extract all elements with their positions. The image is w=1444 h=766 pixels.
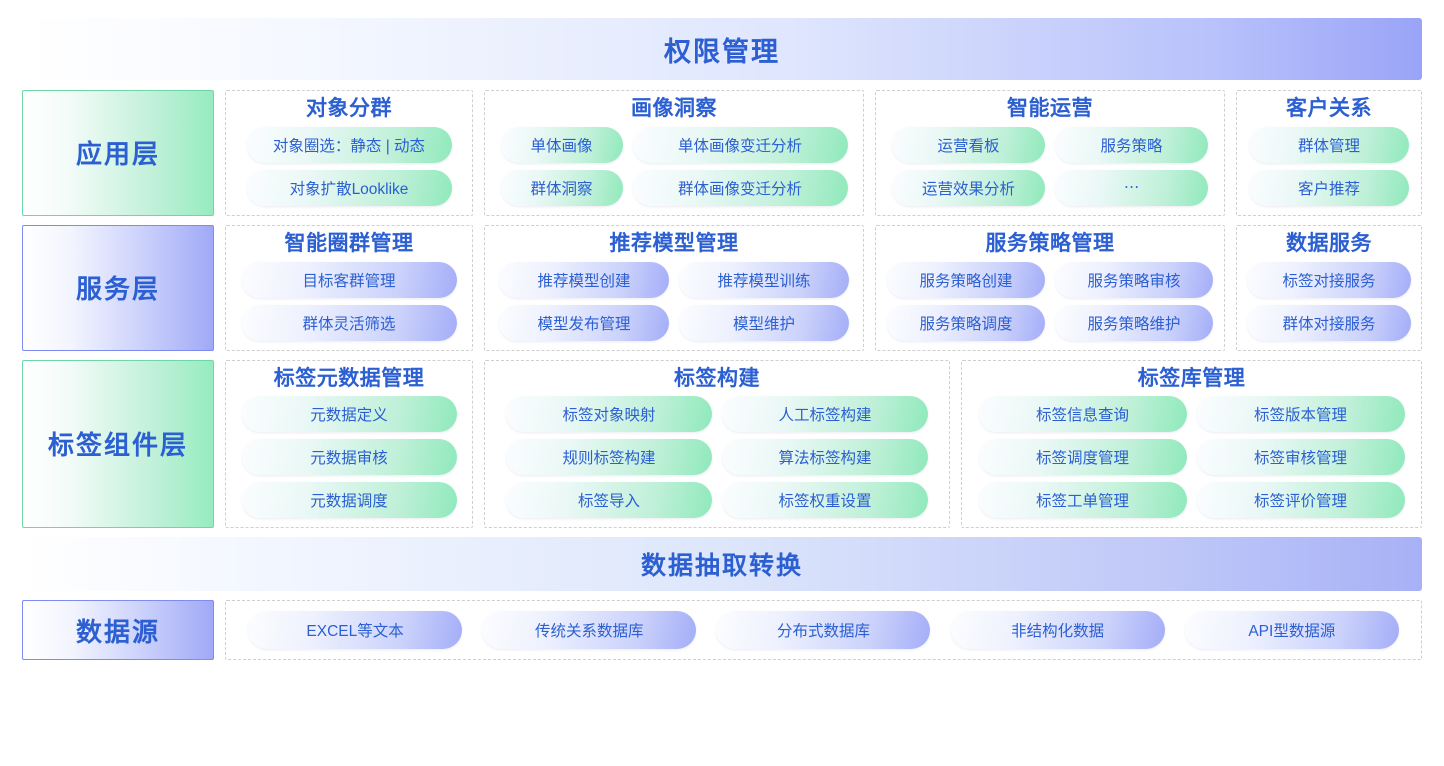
pill-item[interactable]: 群体洞察 [501, 170, 623, 206]
pill-grid: 单体画像 单体画像变迁分析 群体洞察 群体画像变迁分析 [495, 127, 853, 206]
group-smart-cluster-management: 智能圈群管理 目标客群管理 群体灵活筛选 [225, 225, 473, 351]
pill-item[interactable]: 标签对象映射 [506, 396, 712, 432]
pill-item[interactable]: 群体灵活筛选 [242, 305, 457, 341]
group-data-service: 数据服务 标签对接服务 群体对接服务 [1236, 225, 1422, 351]
pill-item[interactable]: 算法标签构建 [722, 439, 928, 475]
pill-grid: 元数据定义 元数据审核 元数据调度 [236, 396, 462, 518]
pill-item[interactable]: 目标客群管理 [242, 262, 457, 298]
pill-item[interactable]: 群体管理 [1249, 127, 1409, 163]
data-extraction-transform-band: 数据抽取转换 [22, 537, 1422, 591]
pill-item[interactable]: 标签对接服务 [1247, 262, 1411, 298]
layer-row-datasource: 数据源 EXCEL等文本 传统关系数据库 分布式数据库 非结构化数据 API型数… [22, 600, 1422, 660]
pill-item[interactable]: 服务策略维护 [1055, 305, 1213, 341]
pill-item[interactable]: 标签版本管理 [1197, 396, 1405, 432]
layer-label-application: 应用层 [22, 90, 214, 216]
pill-item[interactable]: 非结构化数据 [951, 611, 1165, 649]
pill-item[interactable]: 对象圈选：静态 | 动态 [247, 127, 452, 163]
pill-item[interactable]: 服务策略 [1055, 127, 1208, 163]
pill-item[interactable]: 单体画像变迁分析 [633, 127, 848, 163]
pill-item[interactable]: 标签导入 [506, 482, 712, 518]
group-title: 推荐模型管理 [610, 232, 739, 257]
pill-item[interactable]: 运营效果分析 [892, 170, 1045, 206]
layer-row-tag-component: 标签组件层 标签元数据管理 元数据定义 元数据审核 元数据调度 标签构建 标签对… [22, 360, 1422, 529]
layer-groups-service: 智能圈群管理 目标客群管理 群体灵活筛选 推荐模型管理 推荐模型创建 推荐模型训… [225, 225, 1422, 351]
pill-item-more[interactable]: ⋯ [1055, 170, 1208, 206]
group-tag-construction: 标签构建 标签对象映射 人工标签构建 规则标签构建 算法标签构建 标签导入 标签… [484, 360, 950, 529]
group-title: 对象分群 [306, 97, 392, 122]
architecture-diagram: 权限管理 应用层 对象分群 对象圈选：静态 | 动态 对象扩散Looklike … [0, 0, 1444, 766]
pill-item[interactable]: 服务策略调度 [887, 305, 1045, 341]
group-title: 服务策略管理 [986, 232, 1115, 257]
permission-management-banner: 权限管理 [22, 18, 1422, 80]
group-object-segmentation: 对象分群 对象圈选：静态 | 动态 对象扩散Looklike [225, 90, 473, 216]
datasource-group: EXCEL等文本 传统关系数据库 分布式数据库 非结构化数据 API型数据源 [225, 600, 1422, 660]
group-title: 客户关系 [1286, 97, 1372, 122]
layer-groups-application: 对象分群 对象圈选：静态 | 动态 对象扩散Looklike 画像洞察 单体画像… [225, 90, 1422, 216]
pill-item[interactable]: 服务策略创建 [887, 262, 1045, 298]
pill-item[interactable]: 分布式数据库 [716, 611, 930, 649]
group-intelligent-operation: 智能运营 运营看板 服务策略 运营效果分析 ⋯ [875, 90, 1225, 216]
pill-item[interactable]: 人工标签构建 [722, 396, 928, 432]
pill-item[interactable]: 元数据调度 [242, 482, 457, 518]
layer-row-application: 应用层 对象分群 对象圈选：静态 | 动态 对象扩散Looklike 画像洞察 … [22, 90, 1422, 216]
pill-item[interactable]: 标签调度管理 [979, 439, 1187, 475]
pill-item[interactable]: 元数据审核 [242, 439, 457, 475]
etl-title: 数据抽取转换 [641, 546, 803, 582]
pill-item[interactable]: EXCEL等文本 [248, 611, 462, 649]
pill-item[interactable]: 客户推荐 [1249, 170, 1409, 206]
pill-grid: 服务策略创建 服务策略审核 服务策略调度 服务策略维护 [886, 262, 1214, 341]
pill-item[interactable]: 标签信息查询 [979, 396, 1187, 432]
pill-item[interactable]: 标签权重设置 [722, 482, 928, 518]
layer-label-text: 应用层 [76, 134, 160, 171]
layer-row-service: 服务层 智能圈群管理 目标客群管理 群体灵活筛选 推荐模型管理 推荐模型创建 推… [22, 225, 1422, 351]
group-tag-library-management: 标签库管理 标签信息查询 标签版本管理 标签调度管理 标签审核管理 标签工单管理… [961, 360, 1422, 529]
pill-grid: 推荐模型创建 推荐模型训练 模型发布管理 模型维护 [495, 262, 853, 341]
pill-grid: 群体管理 客户推荐 [1247, 127, 1411, 206]
banner-title: 权限管理 [664, 30, 780, 69]
layer-label-tag-component: 标签组件层 [22, 360, 214, 529]
pill-item[interactable]: 标签审核管理 [1197, 439, 1405, 475]
layer-label-text: 服务层 [76, 269, 160, 306]
pill-grid: 对象圈选：静态 | 动态 对象扩散Looklike [236, 127, 462, 206]
group-service-strategy-management: 服务策略管理 服务策略创建 服务策略审核 服务策略调度 服务策略维护 [875, 225, 1225, 351]
pill-item[interactable]: 运营看板 [892, 127, 1045, 163]
group-title: 数据服务 [1286, 232, 1372, 257]
pill-item[interactable]: API型数据源 [1185, 611, 1399, 649]
group-title: 标签库管理 [1138, 367, 1246, 392]
pill-item[interactable]: 群体对接服务 [1247, 305, 1411, 341]
layer-groups-tag-component: 标签元数据管理 元数据定义 元数据审核 元数据调度 标签构建 标签对象映射 人工… [225, 360, 1422, 529]
pill-item[interactable]: 单体画像 [501, 127, 623, 163]
group-profile-insight: 画像洞察 单体画像 单体画像变迁分析 群体洞察 群体画像变迁分析 [484, 90, 864, 216]
group-tag-metadata-management: 标签元数据管理 元数据定义 元数据审核 元数据调度 [225, 360, 473, 529]
layer-label-datasource: 数据源 [22, 600, 214, 660]
pill-item[interactable]: 服务策略审核 [1055, 262, 1213, 298]
pill-item[interactable]: 标签评价管理 [1197, 482, 1405, 518]
group-title: 标签元数据管理 [274, 367, 425, 392]
pill-item[interactable]: 群体画像变迁分析 [633, 170, 848, 206]
group-title: 智能运营 [1007, 97, 1093, 122]
pill-grid: 标签对接服务 群体对接服务 [1247, 262, 1411, 341]
pill-item[interactable]: 模型发布管理 [499, 305, 669, 341]
group-title: 画像洞察 [631, 97, 717, 122]
pill-item[interactable]: 推荐模型创建 [499, 262, 669, 298]
group-recommend-model-management: 推荐模型管理 推荐模型创建 推荐模型训练 模型发布管理 模型维护 [484, 225, 864, 351]
pill-item[interactable]: 对象扩散Looklike [247, 170, 452, 206]
pill-item[interactable]: 规则标签构建 [506, 439, 712, 475]
layer-label-service: 服务层 [22, 225, 214, 351]
group-title: 智能圈群管理 [285, 232, 414, 257]
pill-grid: 目标客群管理 群体灵活筛选 [236, 262, 462, 341]
layer-label-text: 标签组件层 [48, 425, 188, 462]
group-title: 标签构建 [674, 367, 760, 392]
pill-item[interactable]: 元数据定义 [242, 396, 457, 432]
pill-grid: 标签信息查询 标签版本管理 标签调度管理 标签审核管理 标签工单管理 标签评价管… [972, 396, 1411, 518]
pill-item[interactable]: 传统关系数据库 [482, 611, 696, 649]
pill-item[interactable]: 标签工单管理 [979, 482, 1187, 518]
group-customer-relation: 客户关系 群体管理 客户推荐 [1236, 90, 1422, 216]
pill-item[interactable]: 推荐模型训练 [679, 262, 849, 298]
pill-grid: 运营看板 服务策略 运营效果分析 ⋯ [886, 127, 1214, 206]
pill-item[interactable]: 模型维护 [679, 305, 849, 341]
pill-grid: 标签对象映射 人工标签构建 规则标签构建 算法标签构建 标签导入 标签权重设置 [495, 396, 939, 518]
layer-label-text: 数据源 [76, 612, 160, 649]
